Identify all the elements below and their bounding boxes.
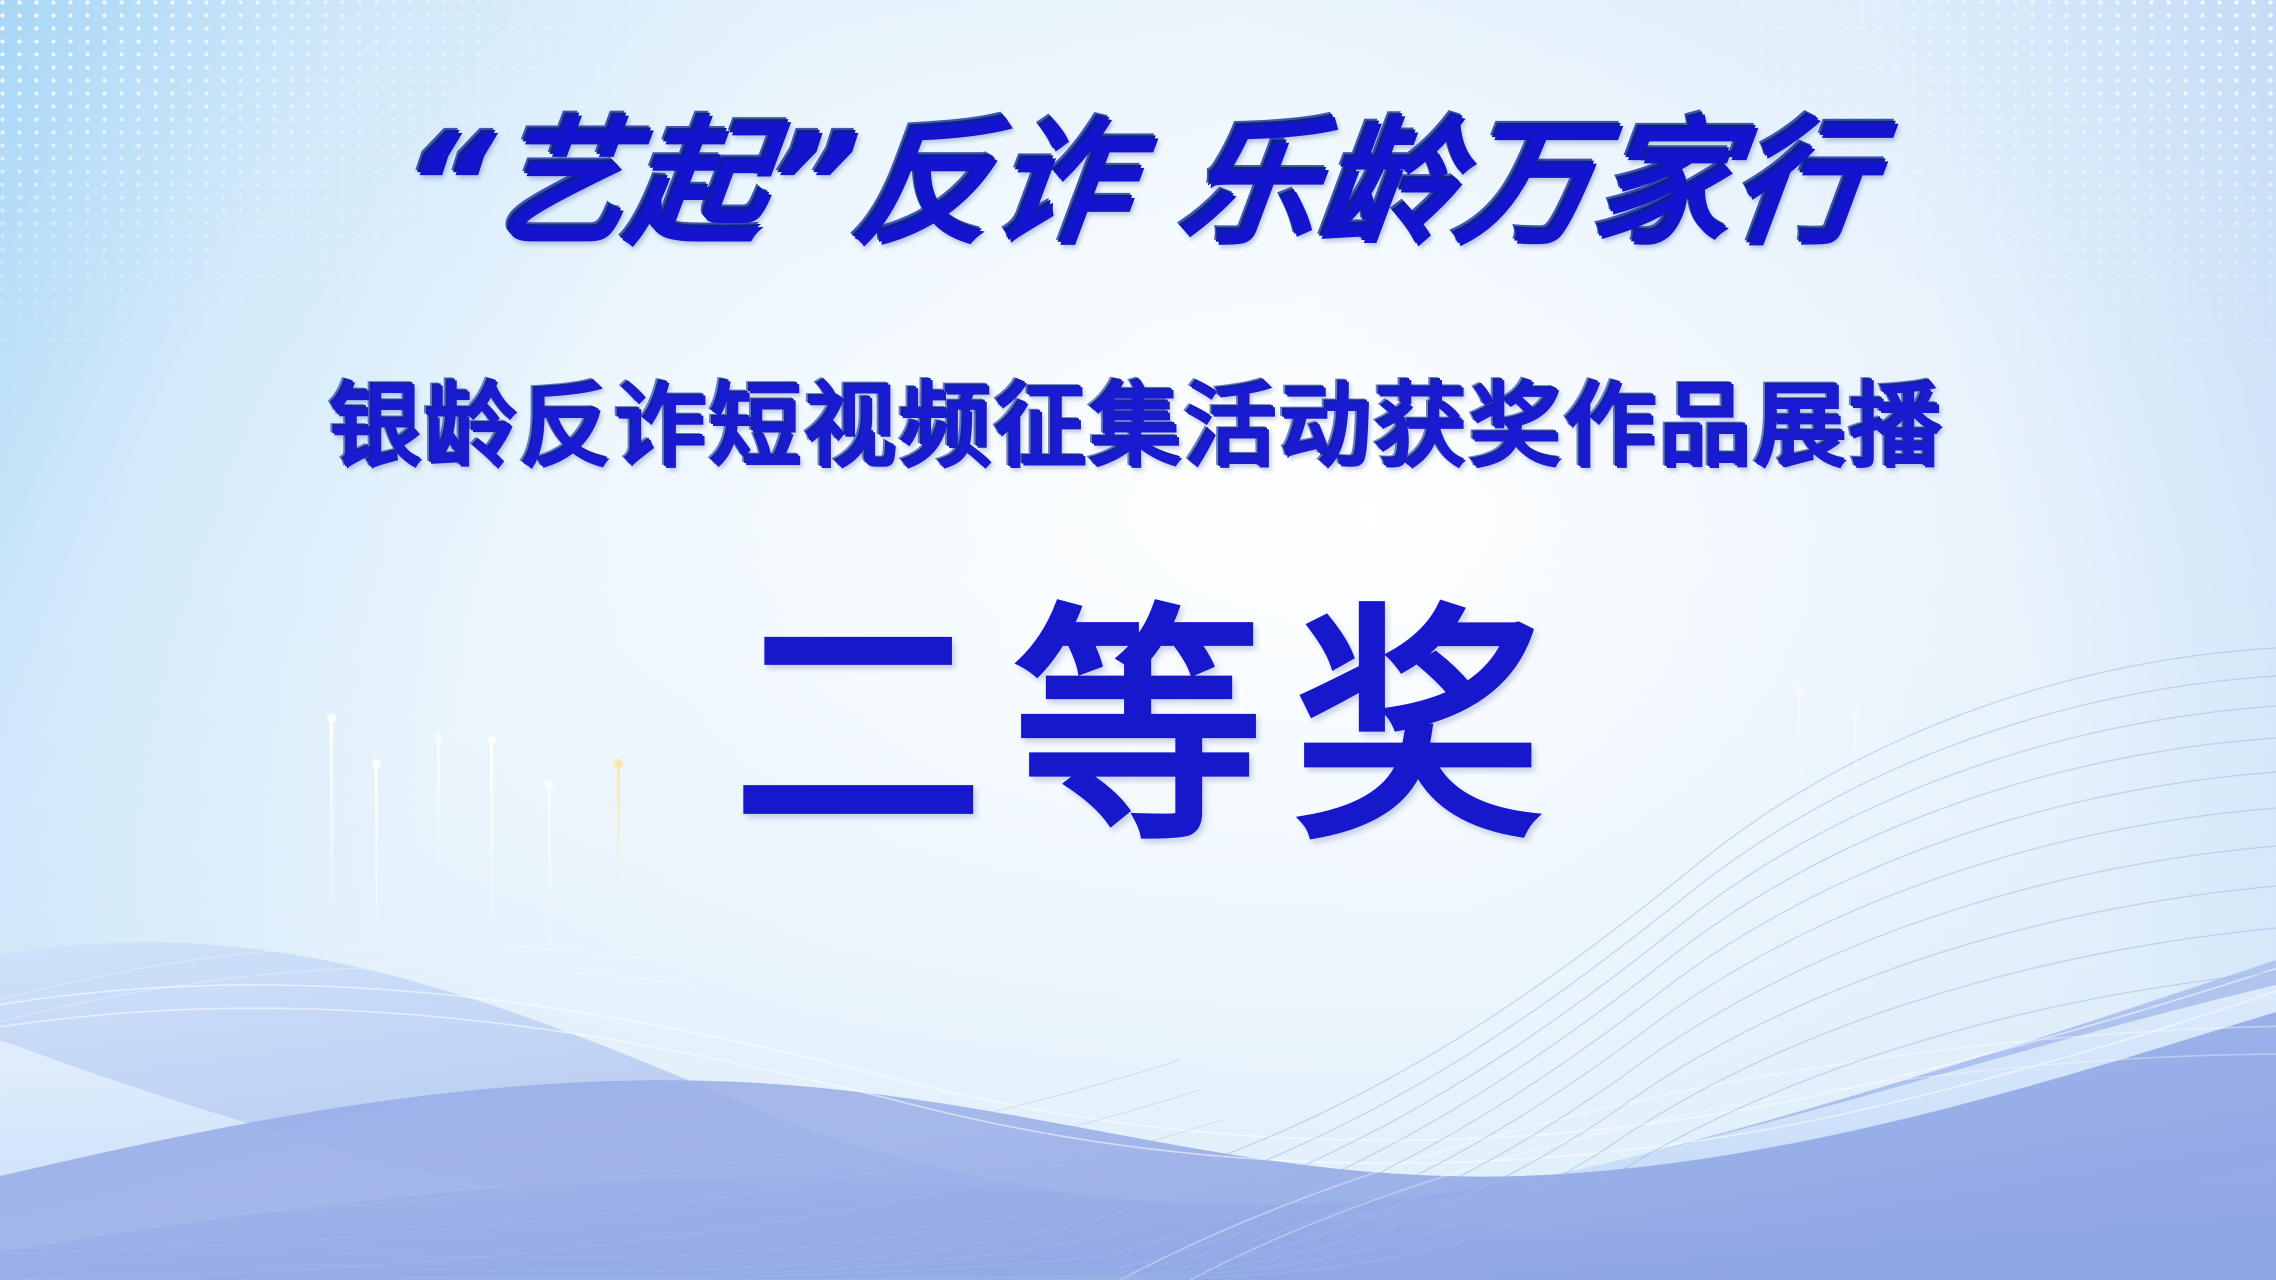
subtitle-row: 银龄反诈短视频征集活动获奖作品展播 (0, 380, 2276, 477)
page-title: “艺起”反诈 乐龄万家行 (394, 118, 1881, 254)
page-subtitle: 银龄反诈短视频征集活动获奖作品展播 (330, 380, 1945, 477)
award-row: 二等奖 (0, 600, 2276, 855)
main-title-row: “艺起”反诈 乐龄万家行 (0, 118, 2276, 254)
poster-canvas: “艺起”反诈 乐龄万家行 银龄反诈短视频征集活动获奖作品展播 二等奖 (0, 0, 2276, 1280)
award-label: 二等奖 (703, 600, 1573, 855)
poster-content: “艺起”反诈 乐龄万家行 银龄反诈短视频征集活动获奖作品展播 二等奖 (0, 0, 2276, 1280)
